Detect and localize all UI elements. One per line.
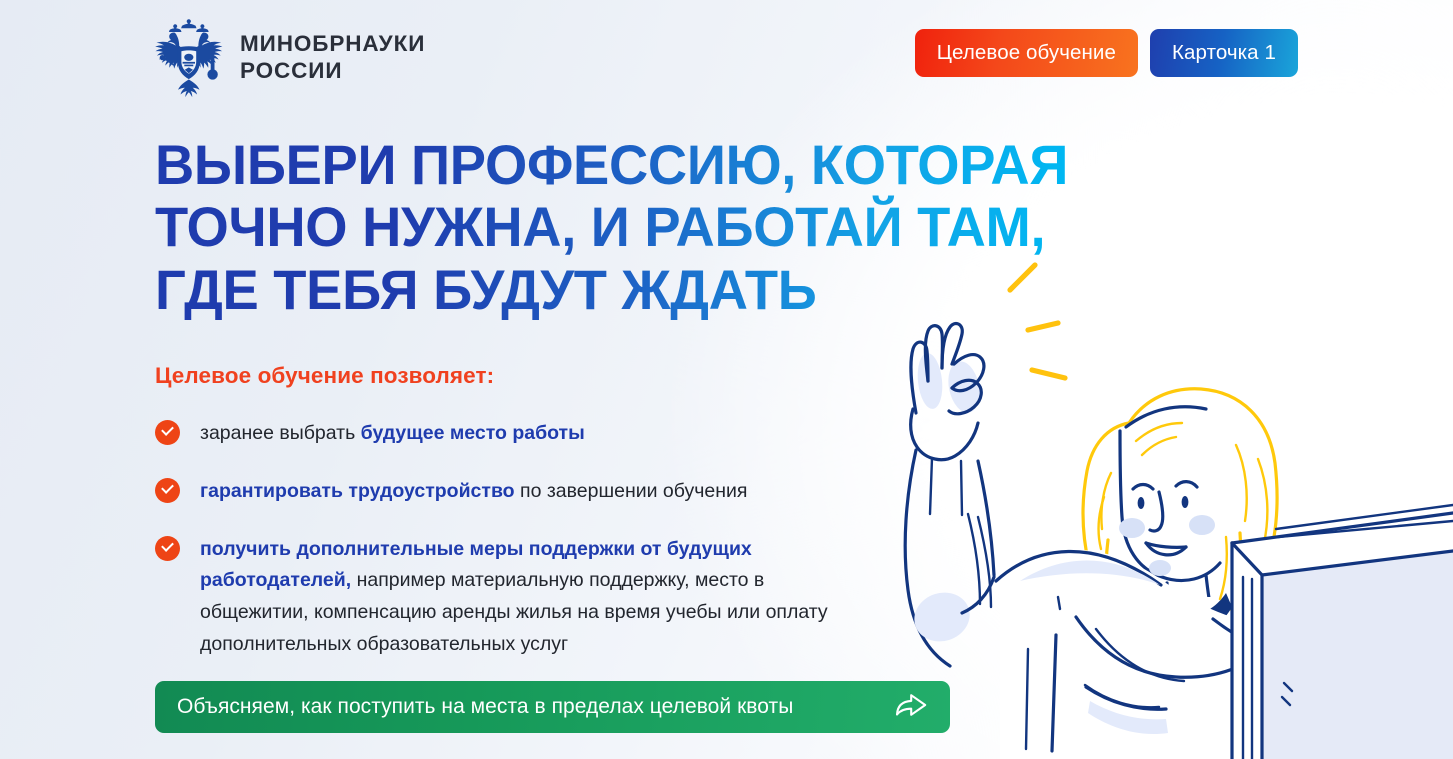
ministry-brand: МИНОБРНАУКИ РОССИИ bbox=[152, 16, 425, 100]
list-item-text: получить дополнительные меры поддержки о… bbox=[200, 534, 855, 661]
benefits-title: Целевое обучение позволяет: bbox=[155, 363, 494, 389]
check-circle-icon bbox=[155, 420, 180, 445]
badge-card-number[interactable]: Карточка 1 bbox=[1150, 29, 1298, 77]
cta-banner[interactable]: Объясняем, как поступить на места в пред… bbox=[155, 681, 950, 733]
sparkle-rays-icon bbox=[1010, 265, 1065, 378]
ministry-name: МИНОБРНАУКИ РОССИИ bbox=[240, 31, 425, 84]
list-item-bold: будущее место работы bbox=[361, 422, 585, 444]
list-item: гарантировать трудоустройство по заверше… bbox=[155, 476, 855, 508]
cta-label: Объясняем, как поступить на места в пред… bbox=[177, 695, 793, 719]
list-item-plain-before: заранее выбрать bbox=[200, 422, 361, 444]
list-item: получить дополнительные меры поддержки о… bbox=[155, 534, 855, 661]
page-header: МИНОБРНАУКИ РОССИИ Целевое обучение Карт… bbox=[0, 0, 1453, 110]
russian-coat-of-arms-icon bbox=[152, 16, 226, 100]
monitor-screen bbox=[1224, 505, 1453, 759]
list-item: заранее выбрать будущее место работы bbox=[155, 418, 855, 450]
check-circle-icon bbox=[155, 536, 180, 561]
badge-targeted-training[interactable]: Целевое обучение bbox=[915, 29, 1138, 77]
woman-ok-gesture-with-monitor-illustration: .ln { fill:none; stroke:#12357f; stroke-… bbox=[880, 245, 1453, 759]
badge-group: Целевое обучение Карточка 1 bbox=[915, 29, 1298, 77]
list-item-plain-after: по завершении обучения bbox=[515, 480, 748, 502]
benefits-list: заранее выбрать будущее место работы гар… bbox=[155, 418, 855, 661]
list-item-text: гарантировать трудоустройство по заверше… bbox=[200, 476, 747, 508]
check-circle-icon bbox=[155, 478, 180, 503]
ok-hand-gesture bbox=[905, 323, 994, 666]
list-item-bold: гарантировать трудоустройство bbox=[200, 480, 515, 502]
list-item-text: заранее выбрать будущее место работы bbox=[200, 418, 585, 450]
